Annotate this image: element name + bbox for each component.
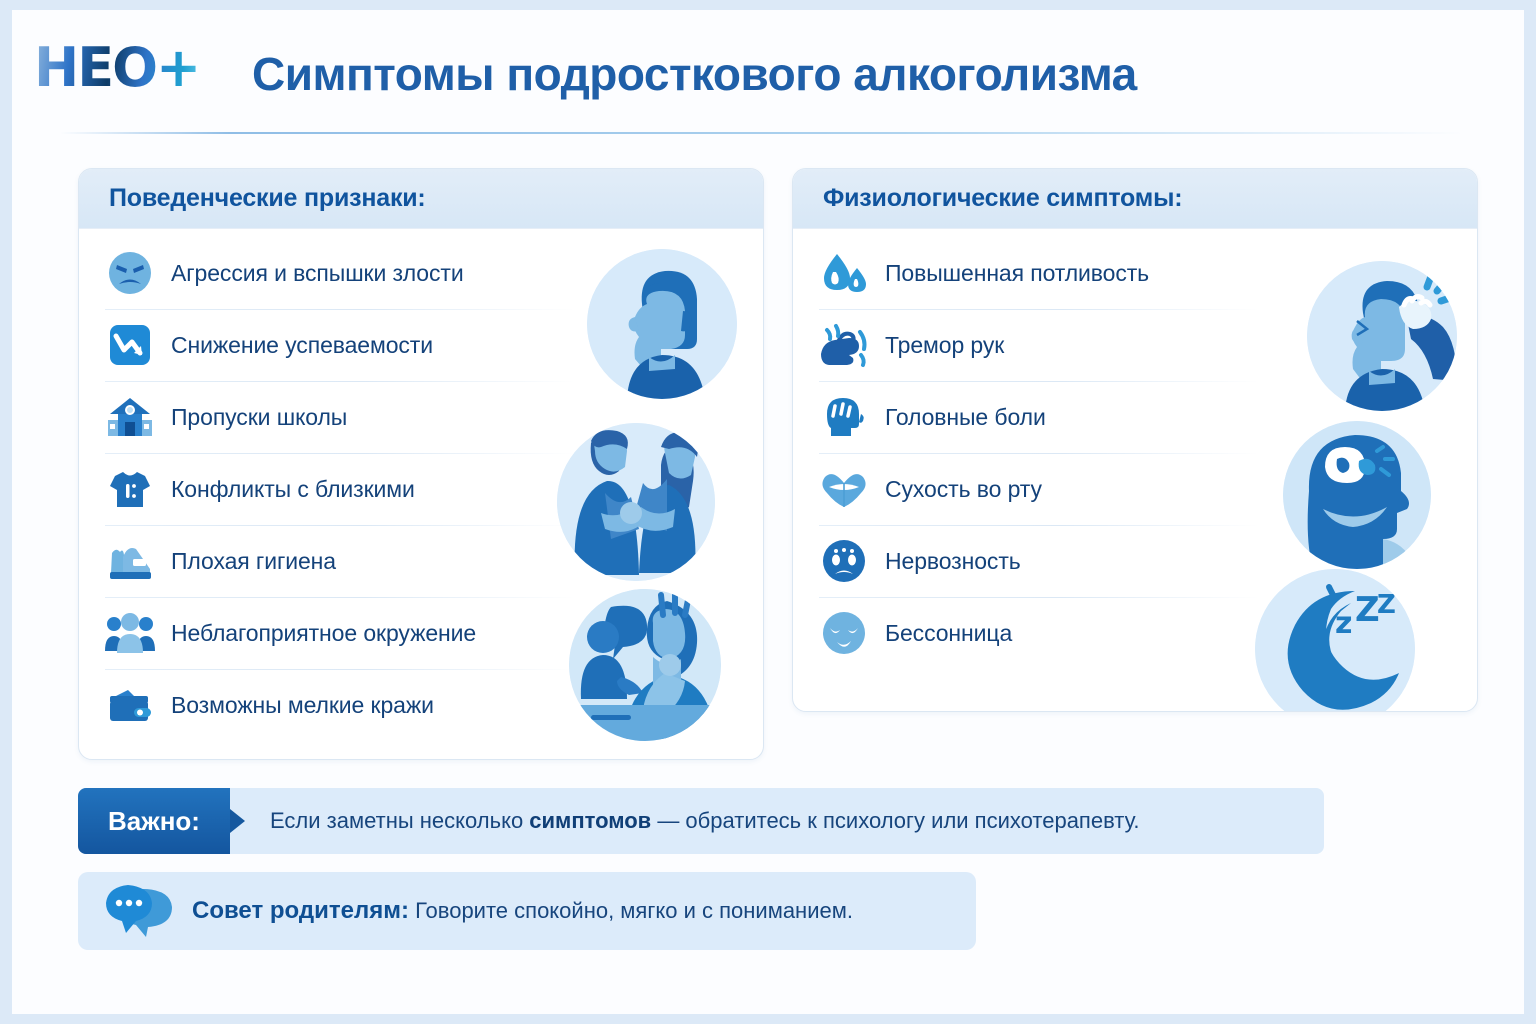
advice-banner: Совет родителям: Говорите спокойно, мягк…	[78, 872, 976, 950]
panel-physiological-header: Физиологические симптомы:	[793, 169, 1477, 229]
list-item-label: Снижение успеваемости	[171, 332, 433, 359]
advice-label: Совет родителям:	[192, 897, 409, 924]
angry-face-icon	[105, 248, 155, 298]
panel-behavioral: Поведенческие признаки: Агрессия и вспыш…	[78, 168, 764, 760]
people-group-icon	[105, 608, 155, 658]
advice-text: Совет родителям: Говорите спокойно, мягк…	[192, 897, 853, 925]
tshirt-icon	[105, 464, 155, 514]
list-item-label: Нервозность	[885, 548, 1021, 575]
important-text-after: — обратитесь к психологу или психотерапе…	[651, 808, 1139, 833]
important-text-bold: симптомов	[529, 808, 651, 833]
head-brain-illustration	[1283, 421, 1431, 569]
important-text-before: Если заметны несколько	[270, 808, 529, 833]
lips-icon	[819, 464, 869, 514]
trash-bag-icon	[105, 536, 155, 586]
sleepy-face-icon	[819, 608, 869, 658]
sweat-drops-icon	[819, 248, 869, 298]
shaking-hand-icon	[819, 320, 869, 370]
panel-physiological-title: Физиологические симптомы:	[823, 184, 1182, 213]
panel-physiological: Физиологические симптомы: Повышенная пот…	[792, 168, 1478, 712]
important-tag-label: Важно:	[108, 806, 200, 837]
worried-face-icon	[819, 536, 869, 586]
list-item-label: Возможны мелкие кражи	[171, 692, 434, 719]
list-item-label: Плохая гигиена	[171, 548, 336, 575]
list-item-label: Неблагоприятное окружение	[171, 620, 476, 647]
list-item-label: Головные боли	[885, 404, 1046, 431]
list-item-label: Конфликты с близкими	[171, 476, 415, 503]
list-item-label: Тремор рук	[885, 332, 1004, 359]
infographic-page: HEO+ Симптомы подросткового алкоголизма …	[12, 10, 1524, 1014]
advice-body: Говорите спокойно, мягко и с пониманием.	[409, 898, 853, 923]
school-building-icon	[105, 392, 155, 442]
panel-behavioral-header: Поведенческие признаки:	[79, 169, 763, 229]
page-header: HEO+ Симптомы подросткового алкоголизма	[12, 10, 1524, 130]
page-title: Симптомы подросткового алкоголизма	[252, 47, 1137, 101]
wallet-icon	[105, 680, 155, 730]
list-item-label: Агрессия и вспышки злости	[171, 260, 464, 287]
important-banner: Важно: Если заметны несколько симптомов …	[78, 788, 1324, 854]
declining-chart-icon	[105, 320, 155, 370]
head-pain-icon	[819, 392, 869, 442]
list-item-label: Пропуски школы	[171, 404, 347, 431]
headache-person-illustration	[1307, 261, 1457, 411]
important-text: Если заметны несколько симптомов — обрат…	[270, 808, 1140, 834]
teen-portrait-illustration	[587, 249, 737, 399]
panel-behavioral-title: Поведенческие признаки:	[109, 184, 426, 213]
important-tag: Важно:	[78, 788, 230, 854]
speech-bubble-icon	[104, 881, 176, 942]
list-item-label: Бессонница	[885, 620, 1012, 647]
counseling-talk-illustration	[569, 589, 721, 741]
list-item-label: Сухость во рту	[885, 476, 1042, 503]
svg-text:z: z	[1335, 606, 1352, 641]
header-divider	[60, 132, 1464, 134]
brand-logo: HEO+	[34, 40, 199, 96]
svg-text:Z: Z	[1377, 590, 1396, 620]
arguing-couple-illustration	[557, 423, 715, 581]
svg-text:Z: Z	[1355, 590, 1380, 630]
list-item-label: Повышенная потливость	[885, 260, 1149, 287]
